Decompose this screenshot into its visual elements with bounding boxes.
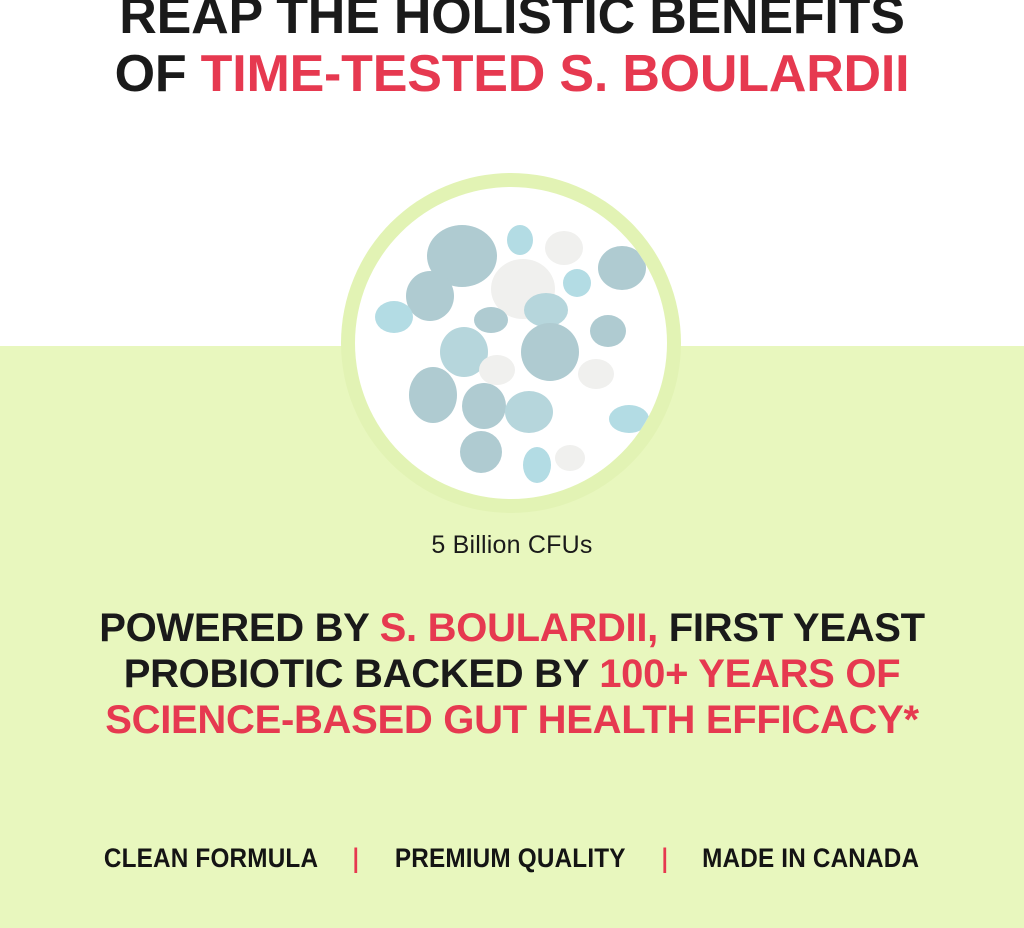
- yeast-cell: [462, 383, 506, 429]
- claim-line-1-plain-a: POWERED BY: [99, 606, 379, 650]
- claim-line-2-plain: PROBIOTIC BACKED BY: [124, 652, 600, 696]
- badge-clean-formula: CLEAN FORMULA: [104, 843, 318, 874]
- headline-line-2-plain: OF: [115, 45, 201, 103]
- yeast-cell: [545, 231, 583, 265]
- claim-block: POWERED BY S. BOULARDII, FIRST YEAST PRO…: [0, 605, 1024, 743]
- trust-badge-bar: CLEAN FORMULA | PREMIUM QUALITY | MADE I…: [0, 843, 1024, 874]
- yeast-cell: [406, 271, 454, 321]
- yeast-cell: [523, 447, 551, 483]
- yeast-cell: [524, 293, 568, 327]
- yeast-cell: [563, 269, 591, 297]
- product-benefit-poster: REAP THE HOLISTIC BENEFITS OF TIME-TESTE…: [0, 0, 1024, 928]
- yeast-cell: [521, 323, 579, 381]
- yeast-cell: [409, 367, 457, 423]
- yeast-cell: [598, 246, 646, 290]
- yeast-cell: [460, 431, 502, 473]
- page-title: REAP THE HOLISTIC BENEFITS OF TIME-TESTE…: [0, 0, 1024, 103]
- yeast-cell: [375, 301, 413, 333]
- claim-line-1: POWERED BY S. BOULARDII, FIRST YEAST: [0, 605, 1024, 651]
- claim-line-2: PROBIOTIC BACKED BY 100+ YEARS OF: [0, 651, 1024, 697]
- claim-line-1-accent: S. BOULARDII,: [380, 606, 658, 650]
- yeast-cell: [590, 315, 626, 347]
- claim-line-1-plain-b: FIRST YEAST: [658, 606, 925, 650]
- yeast-cell: [578, 359, 614, 389]
- yeast-cell: [555, 445, 585, 471]
- headline-line-2: OF TIME-TESTED S. BOULARDII: [0, 46, 1024, 104]
- yeast-cell: [505, 391, 553, 433]
- badge-made-in-canada: MADE IN CANADA: [702, 843, 919, 874]
- yeast-cell: [507, 225, 533, 255]
- claim-line-3: SCIENCE-BASED GUT HEALTH EFFICACY*: [0, 697, 1024, 743]
- claim-line-2-accent: 100+ YEARS OF: [599, 652, 900, 696]
- yeast-cell: [479, 355, 515, 385]
- yeast-cell: [474, 307, 508, 333]
- headline-line-2-accent: TIME-TESTED S. BOULARDII: [201, 45, 910, 103]
- badge-separator-2: |: [644, 843, 685, 874]
- circle-disc: [355, 187, 667, 499]
- probiotic-yeast-cells-circle: [341, 173, 681, 513]
- badge-premium-quality: PREMIUM QUALITY: [395, 843, 626, 874]
- yeast-cell: [609, 405, 649, 433]
- headline-line-1: REAP THE HOLISTIC BENEFITS: [0, 0, 1024, 46]
- badge-separator-1: |: [336, 843, 377, 874]
- cfu-caption: 5 Billion CFUs: [0, 531, 1024, 560]
